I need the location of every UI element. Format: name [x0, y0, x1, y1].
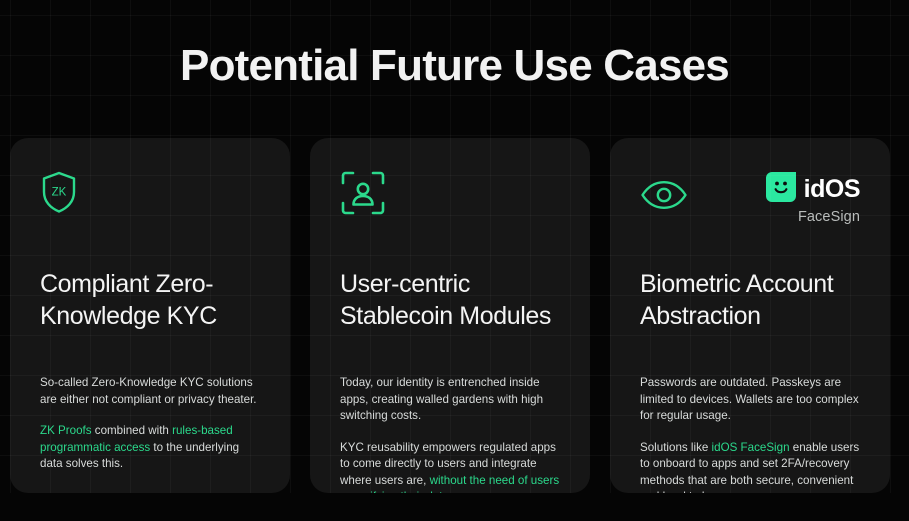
- bottom-mask: [0, 493, 909, 521]
- inline-text: So-called Zero-Knowledge KYC solutions a…: [40, 376, 257, 406]
- card-body: So-called Zero-Knowledge KYC solutions a…: [40, 375, 260, 473]
- inline-text: Passwords are outdated. Passkeys are lim…: [640, 376, 859, 422]
- page-title: Potential Future Use Cases: [0, 41, 909, 91]
- face-scan-icon: [340, 170, 386, 221]
- eye-icon: [640, 180, 688, 215]
- inline-link[interactable]: ZK Proofs: [40, 424, 92, 437]
- inline-text: Solutions like: [640, 441, 712, 454]
- card-title: Compliant Zero- Knowledge KYC: [40, 268, 260, 332]
- use-case-card-list: ZK Compliant Zero- Knowledge KYC So-call…: [10, 138, 899, 493]
- card-paragraph: So-called Zero-Knowledge KYC solutions a…: [40, 375, 260, 408]
- card-paragraph: Today, our identity is entrenched inside…: [340, 375, 560, 425]
- use-case-card: ZK Compliant Zero- Knowledge KYC So-call…: [10, 138, 290, 493]
- use-case-card: User-centric Stablecoin Modules Today, o…: [310, 138, 590, 493]
- idos-logo-word: idOS: [804, 177, 860, 202]
- use-case-card: idOS FaceSign Biometric Account Abstract…: [610, 138, 890, 493]
- inline-text: combined with: [92, 424, 173, 437]
- shield-zk-icon: ZK: [40, 170, 78, 219]
- idos-facesign-logo: idOS FaceSign: [766, 172, 860, 225]
- card-title: Biometric Account Abstraction: [640, 268, 860, 332]
- card-paragraph: KYC reusability empowers regulated apps …: [340, 440, 560, 493]
- card-header: idOS FaceSign: [640, 170, 860, 226]
- card-body: Today, our identity is entrenched inside…: [340, 375, 560, 493]
- idos-smiley-badge-icon: [766, 172, 796, 207]
- svg-text:ZK: ZK: [52, 187, 67, 199]
- inline-text: Today, our identity is entrenched inside…: [340, 376, 543, 422]
- card-body: Passwords are outdated. Passkeys are lim…: [640, 375, 860, 493]
- card-header: [340, 170, 560, 226]
- page-root: Potential Future Use Cases ZK Compliant …: [0, 0, 909, 521]
- card-paragraph: Passwords are outdated. Passkeys are lim…: [640, 375, 860, 425]
- card-header: ZK: [40, 170, 260, 226]
- card-paragraph: Solutions like idOS FaceSign enable user…: [640, 440, 860, 493]
- inline-link[interactable]: idOS FaceSign: [712, 441, 790, 454]
- card-paragraph: ZK Proofs combined with rules-based prog…: [40, 423, 260, 473]
- card-title: User-centric Stablecoin Modules: [340, 268, 560, 332]
- idos-logo-subtitle: FaceSign: [798, 210, 860, 225]
